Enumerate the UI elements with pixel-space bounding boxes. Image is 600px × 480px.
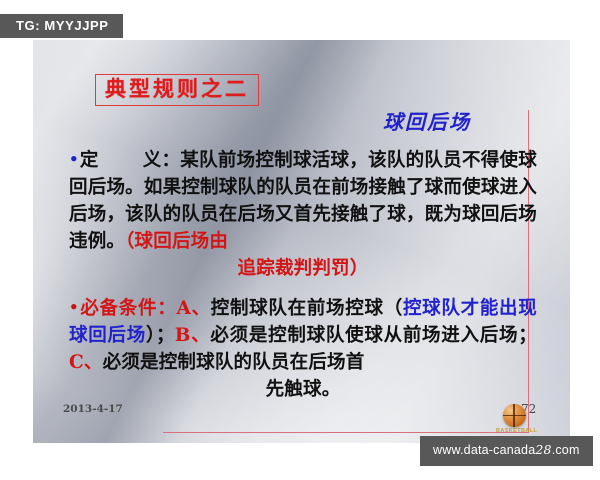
condition-a-close: ）； — [146, 325, 175, 346]
condition-b-text: 必须是控制球队使球从前场进入后场； — [210, 325, 537, 346]
basketball-ball-shape — [503, 404, 526, 427]
basketball-icon: BASKETBALL — [496, 404, 532, 434]
definition-paragraph: •定义：某队前场控制球活球，该队的队员不得使球回后场。如果控制球队的队员在前场接… — [69, 146, 537, 282]
watermark-number: 28 — [535, 442, 551, 457]
basketball-seam-curve — [503, 404, 526, 427]
tg-badge: TG: MYYJJPP — [0, 14, 123, 38]
slide-date: 2013-4-17 — [63, 403, 123, 415]
watermark-suffix: .com — [552, 443, 580, 457]
conditions-bullet-icon: • — [69, 298, 79, 316]
condition-c-label: C、 — [69, 352, 103, 373]
condition-c-text-last: 先触球。 — [69, 376, 537, 403]
condition-a-label: A、 — [176, 298, 210, 319]
condition-a-text: 控制球队在前场控球（ — [211, 298, 403, 319]
slide-content-layer: 典型规则之二 球回后场 •定义：某队前场控制球活球，该队的队员不得使球回后场。如… — [33, 40, 570, 443]
watermark-url: www.data-canada28.com — [420, 436, 593, 466]
slide-body: •定义：某队前场控制球活球，该队的队员不得使球回后场。如果控制球队的队员在前场接… — [69, 146, 537, 403]
slide-subtitle: 球回后场 — [383, 106, 471, 135]
definition-red-note-part2: 追踪裁判判罚） — [69, 255, 537, 282]
definition-colon: ： — [162, 150, 181, 171]
definition-label: 定 — [80, 150, 99, 171]
conditions-paragraph: •必备条件：A、控制球队在前场控球（控球队才能出现球回后场）；B、必须是控制球队… — [69, 294, 537, 403]
conditions-heading: 必备条件： — [80, 298, 177, 319]
definition-red-note-part1: （球回后场由 — [125, 231, 228, 252]
basketball-label: BASKETBALL — [496, 428, 532, 434]
definition-label-2: 义 — [143, 150, 162, 171]
presentation-slide: 典型规则之二 球回后场 •定义：某队前场控制球活球，该队的队员不得使球回后场。如… — [33, 40, 570, 443]
condition-b-label: B、 — [175, 325, 211, 346]
watermark-prefix: www.data-canada — [433, 443, 535, 457]
definition-bullet-icon: • — [69, 150, 79, 168]
slide-title: 典型规则之二 — [95, 74, 259, 106]
condition-c-text: 必须是控制球队的队员在后场首 — [103, 352, 365, 373]
